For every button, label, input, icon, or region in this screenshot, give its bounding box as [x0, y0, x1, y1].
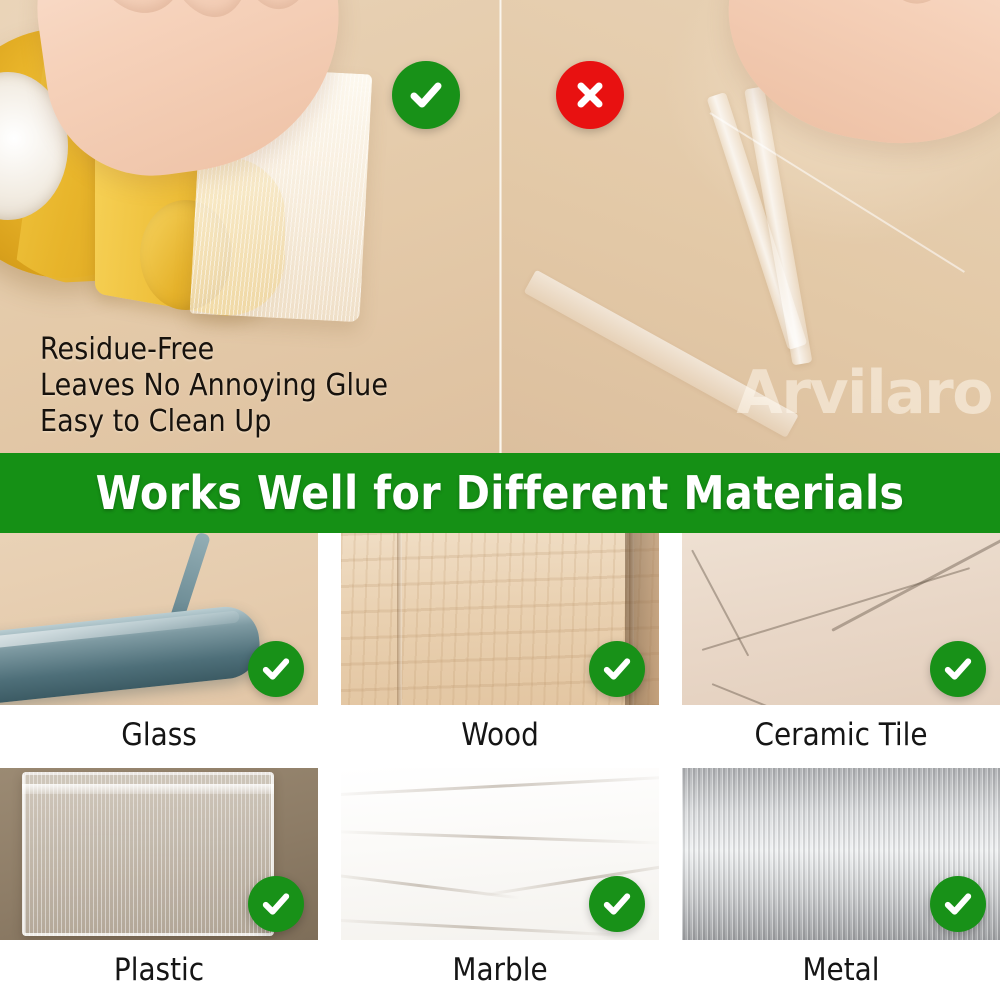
- material-label: Plastic: [0, 940, 318, 1000]
- brand-watermark: Arvilaro: [736, 358, 992, 428]
- tile-vein: [831, 535, 1000, 632]
- tile-vein: [691, 550, 749, 657]
- check-badge-icon: [589, 641, 645, 697]
- material-swatch: [682, 768, 1000, 940]
- material-swatch: [341, 533, 659, 705]
- wood-seam: [397, 533, 402, 705]
- material-label: Wood: [341, 705, 659, 765]
- material-swatch: [682, 533, 1000, 705]
- marble-vein: [341, 872, 520, 899]
- top-comparison-section: Residue-Free Leaves No Annoying Glue Eas…: [0, 0, 1000, 453]
- column-gap: [659, 768, 682, 1000]
- material-label: Ceramic Tile: [682, 705, 1000, 765]
- marble-vein: [341, 918, 621, 937]
- check-badge-icon: [248, 641, 304, 697]
- column-gap: [659, 533, 682, 765]
- materials-row: Glass Wood: [0, 533, 1000, 765]
- material-cell-ceramic-tile: Ceramic Tile: [682, 533, 1000, 765]
- check-badge-icon: [930, 641, 986, 697]
- caption-line-3: Easy to Clean Up: [40, 404, 388, 440]
- material-cell-metal: Metal: [682, 768, 1000, 1000]
- column-gap: [318, 533, 341, 765]
- material-cell-glass: Glass: [0, 533, 318, 765]
- check-badge-icon: [248, 876, 304, 932]
- plastic-sheet: [22, 772, 274, 936]
- check-badge-icon: [392, 61, 460, 129]
- panel-divider: [499, 0, 502, 453]
- marble-vein: [341, 775, 659, 797]
- residue-free-caption: Residue-Free Leaves No Annoying Glue Eas…: [40, 332, 388, 440]
- tile-vein: [712, 683, 833, 705]
- marble-vein: [341, 830, 659, 845]
- material-label: Marble: [341, 940, 659, 1000]
- check-badge-icon: [589, 876, 645, 932]
- materials-grid: Glass Wood: [0, 533, 1000, 1000]
- banner-title: Works Well for Different Materials: [96, 466, 905, 520]
- material-cell-plastic: Plastic: [0, 768, 318, 1000]
- caption-line-2: Leaves No Annoying Glue: [40, 368, 388, 404]
- material-label: Glass: [0, 705, 318, 765]
- product-infographic: Residue-Free Leaves No Annoying Glue Eas…: [0, 0, 1000, 1000]
- material-cell-wood: Wood: [341, 533, 659, 765]
- column-gap: [318, 768, 341, 1000]
- material-label: Metal: [682, 940, 1000, 1000]
- section-banner: Works Well for Different Materials: [0, 453, 1000, 533]
- materials-row: Plastic Marble: [0, 768, 1000, 1000]
- x-badge-icon: [556, 61, 624, 129]
- material-cell-marble: Marble: [341, 768, 659, 1000]
- plastic-sheet-edge: [22, 784, 274, 794]
- material-swatch: [0, 533, 318, 705]
- finger: [63, 0, 201, 27]
- finger: [868, 0, 988, 13]
- check-badge-icon: [930, 876, 986, 932]
- caption-line-1: Residue-Free: [40, 332, 388, 368]
- material-swatch: [0, 768, 318, 940]
- material-swatch: [341, 768, 659, 940]
